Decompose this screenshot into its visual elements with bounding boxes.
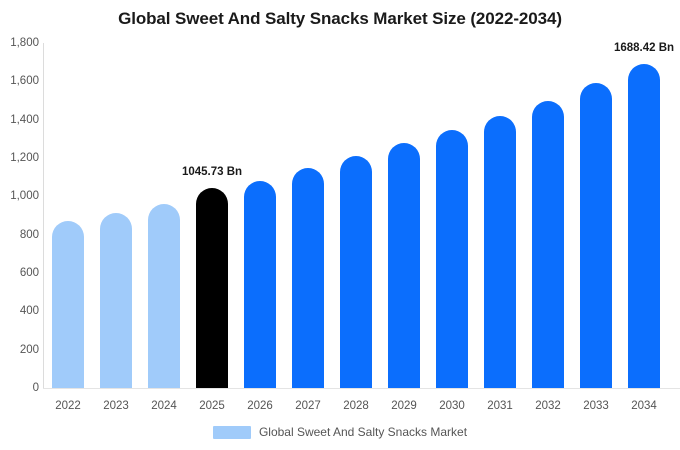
bar-2034[interactable] [628,64,660,388]
bars-layer: 2022202320241045.73 Bn202520262027202820… [0,0,680,450]
bar-2028[interactable] [340,156,372,388]
bar-2023[interactable] [100,213,132,388]
bar-2029[interactable] [388,143,420,388]
x-axis-tick-label-2030: 2030 [428,400,476,412]
bar-2026[interactable] [244,181,276,388]
x-axis-tick-label-2033: 2033 [572,400,620,412]
bar-2024[interactable] [148,204,180,388]
bar-2027[interactable] [292,168,324,388]
x-axis-tick-label-2031: 2031 [476,400,524,412]
bar-2031[interactable] [484,116,516,388]
legend-swatch[interactable] [213,426,251,439]
chart-container: Global Sweet And Salty Snacks Market Siz… [0,0,680,450]
x-axis-tick-label-2022: 2022 [44,400,92,412]
bar-value-label-2025: 1045.73 Bn [172,166,252,178]
legend-label[interactable]: Global Sweet And Salty Snacks Market [259,425,467,439]
x-axis-tick-label-2027: 2027 [284,400,332,412]
x-axis-tick-label-2034: 2034 [620,400,668,412]
x-axis-tick-label-2023: 2023 [92,400,140,412]
bar-2030[interactable] [436,130,468,388]
x-axis-tick-label-2029: 2029 [380,400,428,412]
x-axis-tick-label-2026: 2026 [236,400,284,412]
x-axis-tick-label-2024: 2024 [140,400,188,412]
x-axis-tick-label-2032: 2032 [524,400,572,412]
x-axis-tick-label-2025: 2025 [188,400,236,412]
x-axis-tick-label-2028: 2028 [332,400,380,412]
bar-2022[interactable] [52,221,84,388]
bar-2025[interactable] [196,188,228,388]
bar-2033[interactable] [580,83,612,388]
bar-value-label-2034: 1688.42 Bn [604,42,680,54]
chart-legend: Global Sweet And Salty Snacks Market [0,425,680,439]
bar-2032[interactable] [532,101,564,388]
